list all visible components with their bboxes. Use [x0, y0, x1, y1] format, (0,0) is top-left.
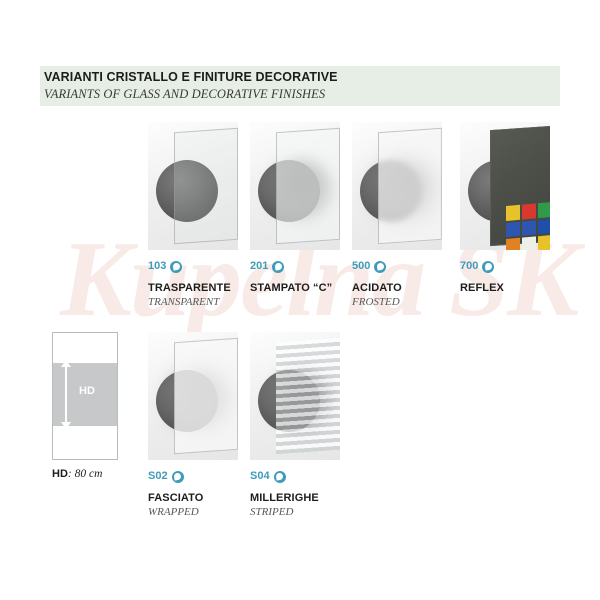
cube-cell [538, 235, 550, 250]
finish-code: S04 [250, 470, 270, 483]
cube-cell [506, 205, 520, 221]
glass-pane-clear [174, 128, 238, 244]
finish-code: 201 [250, 260, 268, 273]
glass-pane-frosted [378, 128, 442, 244]
sample-tile-transparent[interactable] [148, 122, 238, 250]
cube-cell [506, 238, 520, 250]
finish-code-row: 103 [148, 260, 231, 273]
water-drop-icon [172, 471, 184, 483]
sample-photo-reflex [460, 122, 550, 250]
page-title: VARIANTI CRISTALLO E FINITURE DECORATIVE [44, 70, 338, 84]
finish-code-row: S02 [148, 470, 203, 483]
finish-name-it: FASCIATO [148, 492, 203, 504]
sample-photo-fasciato [148, 332, 238, 460]
finish-code-row: S04 [250, 470, 319, 483]
cube-cell [522, 237, 536, 250]
hd-caption: HD: 80 cm [52, 468, 102, 480]
caption-stampato-c: 201 STAMPATO “C” [250, 260, 332, 296]
sample-tile-millerighe[interactable] [250, 332, 340, 460]
hd-arrow-label: HD [79, 385, 95, 397]
finish-code: 500 [352, 260, 370, 273]
finish-name-it: STAMPATO “C” [250, 282, 332, 294]
finish-name-en: WRAPPED [148, 506, 203, 518]
sample-tile-acidato[interactable] [352, 122, 442, 250]
finish-code: 103 [148, 260, 166, 273]
caption-millerighe: S04 MILLERIGHE STRIPED [250, 470, 319, 518]
finish-name-it: ACIDATO [352, 282, 402, 294]
finish-code: 700 [460, 260, 478, 273]
sample-tile-fasciato[interactable] [148, 332, 238, 460]
cube-cell [538, 219, 550, 235]
finish-name-it: REFLEX [460, 282, 504, 294]
finish-name-en: FROSTED [352, 296, 402, 308]
sample-tile-reflex[interactable] [460, 122, 550, 250]
finish-code: S02 [148, 470, 168, 483]
finish-name-it: MILLERIGHE [250, 492, 319, 504]
finish-name-en: STRIPED [250, 506, 319, 518]
hd-dimension-figure: HD HD: 80 cm [52, 332, 118, 460]
sample-photo-transparent [148, 122, 238, 250]
cube-cell [522, 203, 536, 219]
rubik-cube-icon [506, 202, 550, 250]
caption-acidato: 500 ACIDATO FROSTED [352, 260, 402, 308]
hd-double-arrow-icon [65, 367, 67, 422]
water-drop-icon [374, 261, 386, 273]
water-drop-icon [272, 261, 284, 273]
sample-photo-millerighe [250, 332, 340, 460]
caption-reflex: 700 REFLEX [460, 260, 504, 296]
finish-code-row: 201 [250, 260, 332, 273]
cube-cell [522, 220, 536, 236]
hd-panel-diagram: HD [52, 332, 118, 460]
finish-code-row: 700 [460, 260, 504, 273]
caption-fasciato: S02 FASCIATO WRAPPED [148, 470, 203, 518]
hd-caption-label: HD [52, 468, 68, 480]
glass-pane-wrapped [174, 338, 238, 454]
cube-cell [538, 202, 550, 218]
hd-caption-value: : 80 cm [68, 468, 103, 480]
caption-transparent: 103 TRASPARENTE TRANSPARENT [148, 260, 231, 308]
sample-photo-acidato [352, 122, 442, 250]
water-drop-icon [482, 261, 494, 273]
sample-tile-stampato-c[interactable] [250, 122, 340, 250]
finish-code-row: 500 [352, 260, 402, 273]
section-header-band: VARIANTI CRISTALLO E FINITURE DECORATIVE… [40, 66, 560, 106]
cube-cell [506, 221, 520, 237]
page-subtitle: VARIANTS OF GLASS AND DECORATIVE FINISHE… [44, 87, 325, 102]
finish-name-it: TRASPARENTE [148, 282, 231, 294]
finish-name-en: TRANSPARENT [148, 296, 231, 308]
water-drop-icon [170, 261, 182, 273]
glass-pane-striped [276, 338, 340, 454]
sample-photo-stampato-c [250, 122, 340, 250]
glass-pane-patterned [276, 128, 340, 244]
water-drop-icon [274, 471, 286, 483]
